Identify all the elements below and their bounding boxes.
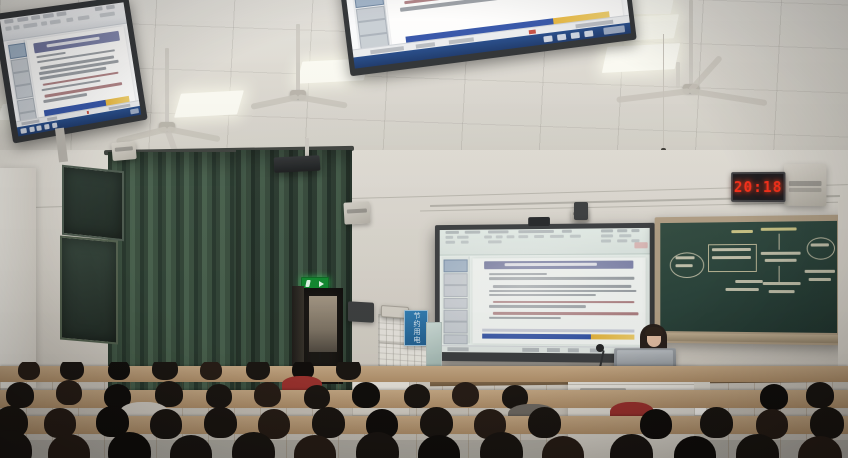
audience-head [480, 432, 523, 458]
ceiling-fan-pole [296, 24, 300, 92]
audience-head [206, 384, 232, 408]
audience-head [700, 407, 733, 438]
taskbar-clock[interactable] [130, 108, 139, 115]
wall-pillar [0, 168, 36, 388]
microphone-head [596, 344, 604, 352]
audience-head [294, 435, 336, 458]
screen-top-camera [528, 217, 550, 226]
ribbon-toolbar-row2[interactable] [446, 239, 641, 243]
audience-head [760, 384, 788, 410]
audience-head [56, 380, 82, 405]
slide-thumbnail-pane[interactable] [442, 257, 470, 344]
audience-head [254, 382, 281, 407]
slide-thumbnail[interactable] [444, 298, 468, 310]
audience-head [304, 385, 330, 409]
taskbar-clock[interactable] [603, 25, 625, 35]
wall-display-box [348, 301, 374, 322]
ceiling-fan-pole [689, 0, 693, 86]
chalk-arrow [779, 234, 780, 250]
ribbon-toolbar[interactable] [446, 234, 641, 239]
audience-head [640, 409, 672, 439]
fan-pull-cord[interactable] [663, 34, 664, 150]
audience-head [60, 362, 84, 380]
audience-head [200, 362, 222, 380]
slide-thumbnail[interactable] [444, 322, 468, 334]
led-wall-clock: 20:18 [731, 172, 785, 202]
audience-head [452, 382, 479, 407]
student-audience [0, 362, 848, 458]
wall-speaker [343, 201, 370, 224]
exit-arrow-icon [319, 281, 324, 287]
ceiling-light-panel [602, 43, 680, 73]
chalk-arrow [779, 266, 780, 282]
slide-secondary-bar [483, 329, 635, 333]
ceiling-monitor-left[interactable] [0, 0, 148, 144]
audience-head [150, 409, 182, 439]
monitor-left-screen [0, 2, 141, 136]
energy-saving-notice-sign: 节约用电 [404, 310, 428, 346]
audience-head [810, 407, 844, 439]
presenter-fringe [645, 327, 663, 336]
audience-head [204, 407, 237, 438]
slide-thumbnail[interactable] [444, 334, 468, 344]
audience-head [352, 382, 380, 408]
wall-sensor-device [574, 202, 588, 220]
green-chalkboard [655, 215, 844, 346]
right-wall-edge [838, 200, 848, 380]
slide-left [0, 2, 141, 136]
audience-head [246, 362, 270, 380]
audience-head [6, 382, 34, 408]
audience-head [152, 362, 178, 380]
app-ribbon [440, 228, 650, 255]
audience-head [170, 435, 212, 458]
audience-head [542, 436, 584, 458]
ceiling-fan-pole [165, 48, 169, 124]
audience-head [528, 407, 561, 438]
ceiling-projector [274, 155, 321, 173]
chalk-circle [807, 237, 835, 260]
slide-canvas [472, 257, 645, 345]
ceiling-light-panel [174, 90, 244, 117]
slide-thumbnail[interactable] [444, 310, 468, 322]
slide-thumbnail[interactable] [444, 273, 468, 285]
chalk-tray [658, 333, 839, 343]
audience-head [798, 436, 842, 458]
interactive-projection-screen[interactable] [435, 223, 655, 363]
audience-head [420, 407, 453, 438]
projection-surface [440, 228, 650, 354]
window-panel [60, 235, 118, 344]
exit-figure-icon [305, 280, 310, 287]
clock-time: 20:18 [734, 178, 783, 196]
audience-head [108, 362, 130, 380]
audience-head [18, 362, 40, 380]
ceiling-fan-pole [676, 62, 680, 88]
audience-head [108, 432, 151, 458]
wall-speaker [111, 141, 136, 161]
window-panel [62, 165, 124, 242]
slide-thumbnail[interactable] [444, 259, 468, 272]
audience-head [404, 384, 430, 408]
audience-head [312, 407, 345, 438]
blue-sign-text: 节约用电 [412, 312, 420, 344]
doorway-interior [309, 296, 337, 352]
slide-title-bar [484, 261, 633, 269]
audience-head [0, 430, 32, 458]
audience-head [336, 362, 361, 380]
lecture-hall-photo: 20:18 [0, 0, 848, 458]
slide-accent-bar [483, 334, 635, 340]
audience-head [674, 436, 716, 458]
slide-main [440, 228, 650, 354]
audience-head [806, 382, 834, 408]
wall-air-conditioner [784, 164, 826, 207]
audience-head [418, 435, 460, 458]
chalkboard-surface [660, 221, 837, 333]
slide-thumbnail[interactable] [444, 285, 468, 297]
